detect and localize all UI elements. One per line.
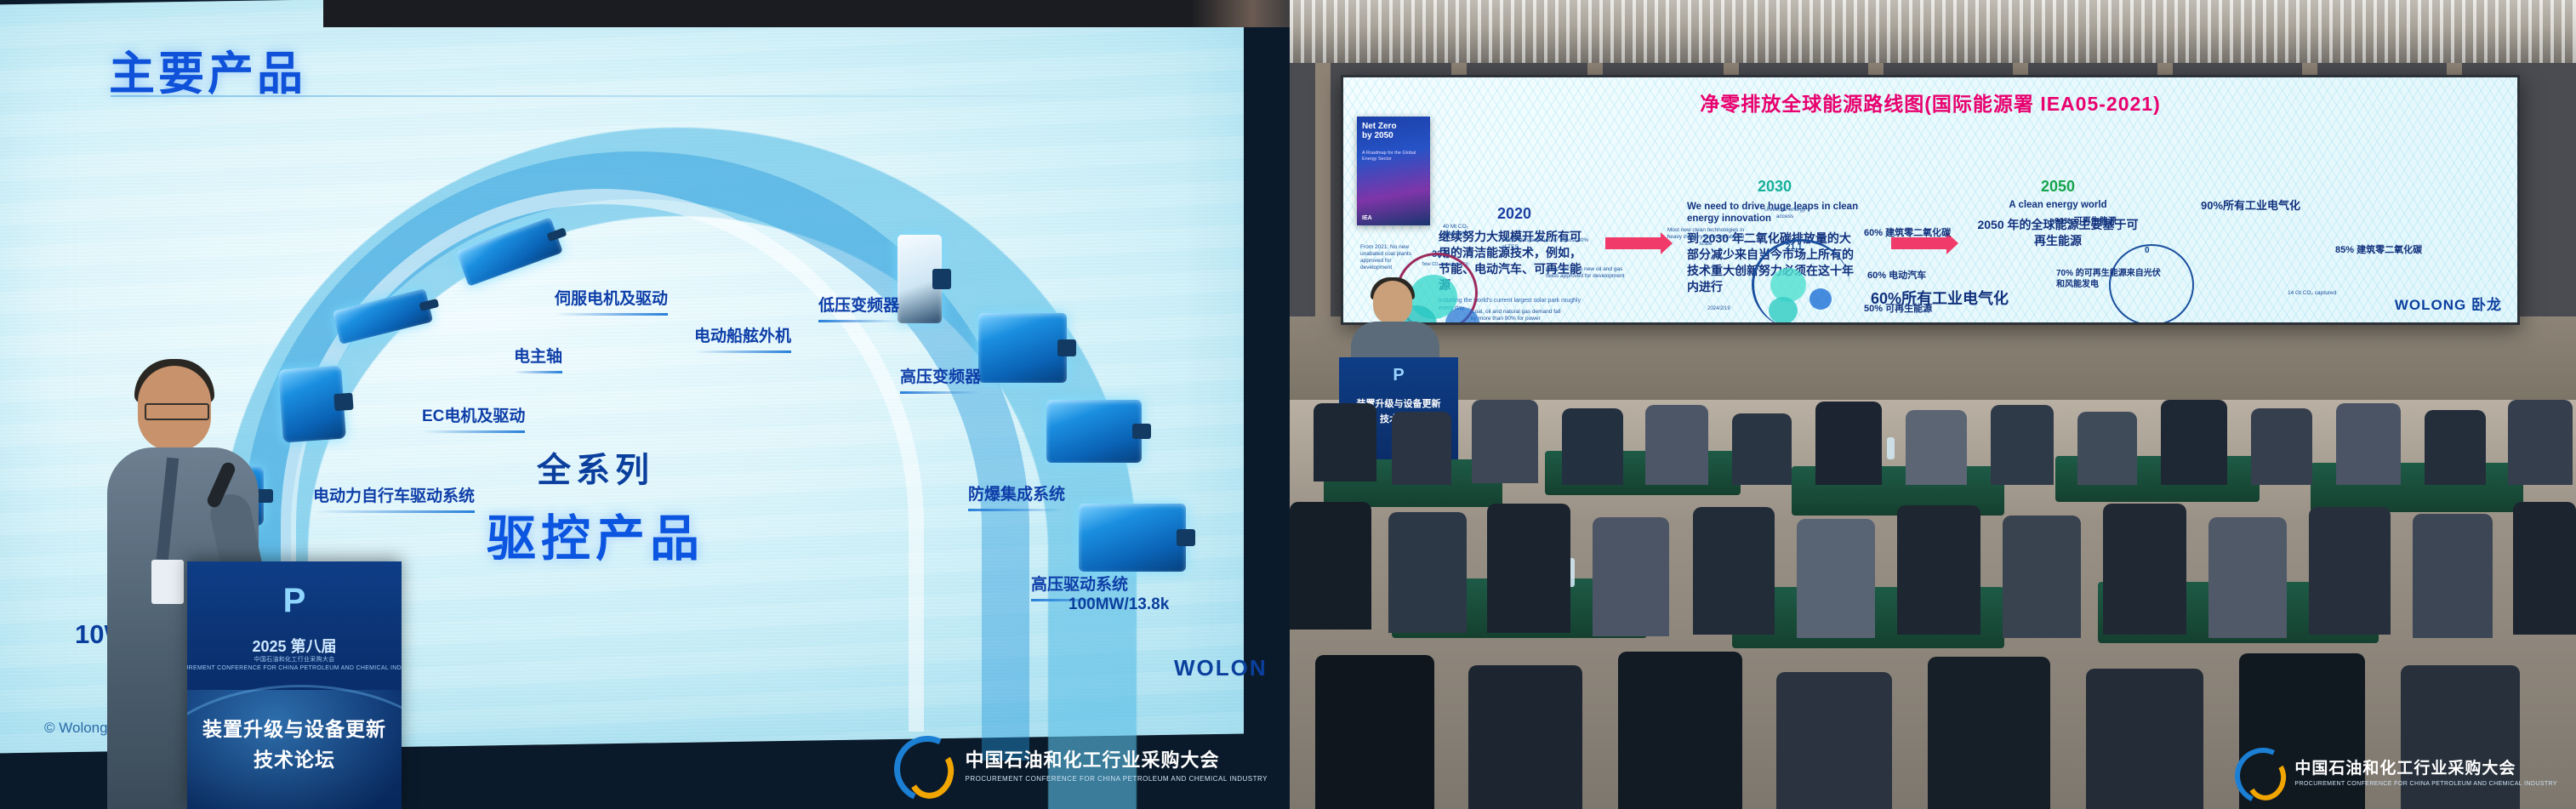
iea-report-cover: Net Zero by 2050 A Roadmap for the Globa…: [1357, 117, 1430, 225]
label-text: EC电机及驱动: [422, 407, 525, 425]
event-title: 中国石油和化工行业采购大会: [966, 745, 1268, 772]
column-year: 2020: [1439, 205, 1590, 223]
bubble-buildings-2030: [1809, 288, 1832, 310]
event-logo-text: 中国石油和化工行业采购大会 PROCUREMENT CONFERENCE FOR…: [966, 745, 1268, 783]
arrow-2020-to-2030: [1605, 237, 1661, 249]
podium-year: 2025 第八届: [252, 635, 336, 657]
attendee: [2251, 408, 2312, 485]
water-bottle: [1887, 437, 1895, 459]
slide-center-text: 全系列 驱控产品: [487, 442, 704, 570]
attendee-foreground: [1618, 652, 1742, 809]
bubble-other-2030: [1769, 297, 1798, 324]
attendee: [1472, 400, 1538, 483]
podium-logo-icon: P: [1393, 366, 1404, 385]
podium-left: P 2025 第八届 中国石油和化工行业采购大会 PROCUREMENT CON…: [187, 561, 402, 809]
attendee: [2513, 502, 2576, 635]
product-label-servo: 伺服电机及驱动: [555, 286, 668, 316]
annotation-pv-wind-70: 70% 的可再生能源来自光伏和风能发电: [2056, 268, 2167, 290]
attendee: [1732, 413, 1792, 485]
label-text: 电主轴: [514, 348, 562, 366]
product-image-lv-inverter: [898, 235, 942, 323]
product-label-lv-inverter: 低压变频器: [818, 293, 899, 322]
product-label-ex-system: 防爆集成系统: [968, 481, 1065, 511]
right-photo: 净零排放全球能源路线图(国际能源署 IEA05-2021) Net Zero b…: [1290, 0, 2576, 809]
footer-highlight: 60%所有工业电气化: [1871, 287, 2009, 309]
attendee-foreground: [2086, 669, 2203, 809]
podium-forum-line-2: 技术论坛: [254, 743, 335, 772]
title-underline: [111, 95, 1114, 97]
label-rule: [313, 510, 475, 513]
attendee: [1388, 512, 1467, 633]
event-logo-text: 中国石油和化工行业采购大会 PROCUREMENT CONFERENCE FOR…: [2294, 755, 2557, 787]
event-title: 中国石油和化工行业采购大会: [2294, 755, 2557, 778]
label-rule: [818, 320, 899, 322]
attendee: [1815, 402, 1882, 485]
label-rule: [555, 313, 668, 316]
wolong-brand-right: WOLONG 卧龙: [2395, 293, 2502, 314]
diagram-note-4: Most new clean technologies in heavy ind…: [1665, 227, 1747, 248]
attendee: [2425, 410, 2486, 485]
label-text: 电动船舷外机: [694, 328, 791, 345]
label-text: 高压驱动系统: [1031, 576, 1128, 594]
attendee-foreground: [1468, 665, 1582, 809]
center-line-2: 驱控产品: [487, 499, 704, 570]
product-image-hv-drive: [1079, 504, 1186, 572]
annotation-ev: 60% 电动汽车: [1867, 270, 1926, 282]
product-label-ec: EC电机及驱动: [422, 403, 525, 433]
label-text: 电动力自行车驱动系统: [313, 487, 475, 505]
diagram-note-3: From 2021: No new oil and gas fields app…: [1546, 266, 1627, 280]
attendee: [1991, 405, 2054, 485]
center-line-1: 全系列: [487, 442, 704, 492]
wall-slat: [1315, 63, 1331, 318]
label-text: 防爆集成系统: [968, 486, 1065, 504]
attendee: [2336, 403, 2401, 485]
attendee: [1593, 517, 1669, 636]
name-badge: [151, 560, 184, 604]
event-subtitle: PROCUREMENT CONFERENCE FOR CHINA PETROLE…: [2294, 781, 2557, 787]
column-year: 2050: [1973, 178, 2143, 196]
attendee: [1897, 505, 1980, 635]
attendee: [1645, 405, 1708, 485]
glasses-icon: [145, 403, 209, 420]
book-title-line-2: by 2050: [1362, 131, 1393, 140]
speaker-head: [1373, 281, 1412, 325]
event-logo-left: 中国石油和化工行业采购大会 PROCUREMENT CONFERENCE FOR…: [891, 732, 1268, 795]
podium-forum-line-1: 装置升级与设备更新: [202, 713, 386, 742]
attendee: [2003, 516, 2081, 638]
attendee-foreground: [1315, 655, 1434, 809]
attendee: [1392, 412, 1451, 485]
label-rule: [968, 509, 1065, 511]
annotation-buildings-85: 85% 建筑零二氧化碳: [2335, 244, 2422, 256]
attendee-foreground: [1928, 657, 2050, 809]
diagram-note-5: Universal energy access: [1757, 207, 1813, 220]
attendee: [1314, 403, 1376, 481]
two-photo-composite: 主要产品 伺服电机及驱动 电主轴 EC电机及驱动 电动力自行车驱动系统: [0, 0, 2576, 809]
attendee: [1290, 502, 1371, 630]
event-logo-mark-icon: [2231, 744, 2284, 797]
ceiling-strip: [323, 0, 1290, 27]
diagram-note-1: 40 Mt CO₂ captured: [1432, 224, 1479, 237]
product-label-spindle: 电主轴: [514, 344, 562, 373]
column-en-heading: A clean energy world: [1973, 199, 2143, 211]
event-logo-right: 中国石油和化工行业采购大会 PROCUREMENT CONFERENCE FOR…: [2231, 744, 2557, 797]
annotation-renewables-90: 90% 可再生能源: [2055, 219, 2117, 225]
ceiling: [1290, 0, 2576, 66]
podium-sub-en: PROCUREMENT CONFERENCE FOR CHINA PETROLE…: [187, 665, 402, 671]
book-title: Net Zero by 2050: [1362, 122, 1397, 140]
event-logo-mark-icon: [891, 732, 954, 795]
attendee: [2077, 412, 2137, 485]
attendee: [1797, 519, 1875, 638]
attendee: [2208, 517, 2287, 638]
product-image-ec-motor: [278, 366, 346, 443]
product-image-hv-inverter: [978, 313, 1067, 383]
book-title-line-1: Net Zero: [1362, 122, 1397, 131]
book-subtitle: A Roadmap for the Global Energy Sector: [1362, 151, 1425, 162]
column-year: 2030: [1687, 178, 1862, 196]
roadmap-title: 净零排放全球能源路线图(国际能源署 IEA05-2021): [1700, 88, 2160, 117]
annotation-buildings: 60% 建筑零二氧化碳: [1864, 227, 1951, 240]
book-publisher: IEA: [1362, 215, 1372, 221]
product-label-outboard: 电动船舷外机: [694, 323, 791, 353]
attendee: [2161, 400, 2227, 485]
attendee: [1487, 504, 1570, 633]
spec-high: 100MW/13.8k: [1069, 595, 1169, 614]
label-rule: [514, 371, 562, 373]
attendee: [1562, 408, 1623, 485]
podium-sub-cn: 中国石油和化工行业采购大会: [254, 655, 335, 664]
attendee: [1693, 507, 1775, 635]
column-2050: 2050 A clean energy world 2050 年的全球能源主要基…: [1973, 178, 2143, 249]
label-text: 低压变频器: [818, 297, 899, 315]
attendee-foreground: [1776, 672, 1892, 809]
wolong-brand: WOLON: [1174, 655, 1268, 681]
label-rule: [422, 430, 525, 433]
product-image-ex-system: [1046, 400, 1142, 463]
label-text: 伺服电机及驱动: [555, 290, 668, 308]
logo-mark-icon: P: [283, 582, 306, 620]
diagram-note-14: 14 Gt CO₂ captured: [2288, 290, 2361, 297]
product-label-ebike: 电动力自行车驱动系统: [313, 483, 475, 513]
attendee: [1906, 410, 1967, 485]
ceiling-grid: [1290, 0, 2576, 66]
diagram-note-2: Fossil fuels account for almost 80% of T…: [1502, 237, 1590, 251]
left-photo: 主要产品 伺服电机及驱动 电主轴 EC电机及驱动 电动力自行车驱动系统: [0, 0, 1290, 809]
product-label-hv-inverter: 高压变频器: [900, 364, 981, 394]
label-rule: [694, 350, 791, 353]
diagram-note-12: Coal, oil and natural gas demand fall by…: [1471, 309, 1564, 325]
attendee: [2103, 504, 2186, 635]
attendee: [2413, 514, 2493, 638]
label-text: 高压变频器: [900, 368, 981, 386]
attendee: [2508, 400, 2573, 485]
annotation-industry-90: 90%所有工业电气化: [2201, 198, 2300, 213]
slide-title: 主要产品: [109, 36, 306, 103]
slide-date-code: 2024/2/19: [1707, 305, 1730, 312]
presentation-screen: 净零排放全球能源路线图(国际能源署 IEA05-2021) Net Zero b…: [1341, 75, 2520, 325]
bubble-industry-2030: [1770, 268, 1806, 302]
attendee: [2309, 507, 2391, 635]
event-subtitle: PROCUREMENT CONFERENCE FOR CHINA PETROLE…: [966, 775, 1268, 783]
label-rule: [900, 391, 981, 394]
